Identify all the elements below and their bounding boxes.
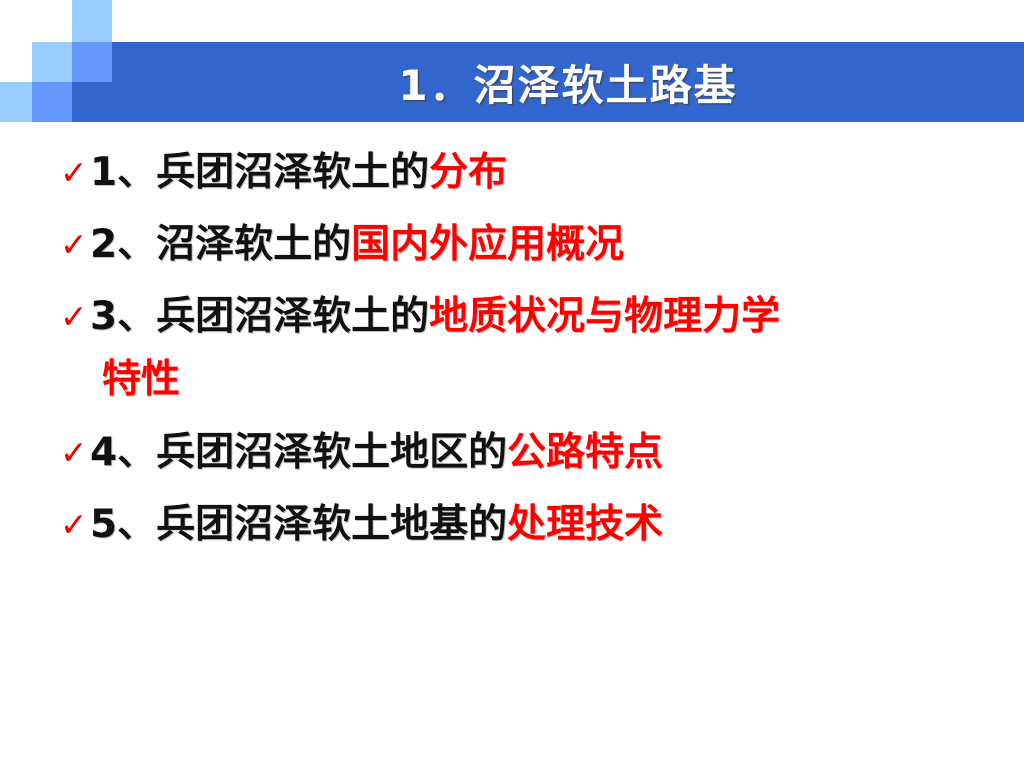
list-item-text: 3、兵团沼泽软土的地质状况与物理力学 xyxy=(90,292,1004,342)
decor-medium-blue-block-a xyxy=(72,42,112,82)
list-item-text: 5、兵团沼泽软土地基的处理技术 xyxy=(90,500,1004,550)
list-item-text: 4、兵团沼泽软土地区的公路特点 xyxy=(90,428,1004,478)
list-item: ✓ 3、兵团沼泽软土的地质状况与物理力学 xyxy=(60,292,1004,342)
list-item-dark-text: 兵团沼泽软土地区的 xyxy=(156,430,507,475)
list-item-red-text: 国内外应用概况 xyxy=(351,222,624,267)
list-item-number: 2、 xyxy=(90,222,156,267)
checkmark-icon: ✓ xyxy=(60,500,90,550)
list-item-continuation: 特性 xyxy=(60,354,1004,406)
list-item: ✓ 5、兵团沼泽软土地基的处理技术 xyxy=(60,500,1004,550)
list-item-number: 3、 xyxy=(90,294,156,339)
checkmark-icon: ✓ xyxy=(60,220,90,270)
decor-light-blue-block-middle xyxy=(32,42,72,82)
decor-light-blue-block-top xyxy=(72,0,112,42)
list-item-number: 1、 xyxy=(90,150,156,195)
list-item-number: 5、 xyxy=(90,502,156,547)
list-item: ✓ 4、兵团沼泽软土地区的公路特点 xyxy=(60,428,1004,478)
slide-title: 1．沼泽软土路基 xyxy=(112,42,1024,122)
checkmark-icon: ✓ xyxy=(60,148,90,198)
decor-medium-blue-block-b xyxy=(32,82,72,122)
list-item-dark-text: 沼泽软土的 xyxy=(156,222,351,267)
bullet-list: ✓ 1、兵团沼泽软土的分布 ✓ 2、沼泽软土的国内外应用概况 ✓ 3、兵团沼泽软… xyxy=(60,148,1004,572)
checkmark-icon: ✓ xyxy=(60,428,90,478)
list-item-dark-text: 兵团沼泽软土的 xyxy=(156,150,429,195)
list-item-continuation-text: 特性 xyxy=(102,354,180,406)
list-item-red-text: 地质状况与物理力学 xyxy=(429,294,780,339)
list-item: ✓ 2、沼泽软土的国内外应用概况 xyxy=(60,220,1004,270)
checkmark-icon: ✓ xyxy=(60,292,90,342)
list-item-number: 4、 xyxy=(90,430,156,475)
list-item: ✓ 1、兵团沼泽软土的分布 xyxy=(60,148,1004,198)
list-item-text: 2、沼泽软土的国内外应用概况 xyxy=(90,220,1004,270)
list-item-dark-text: 兵团沼泽软土的 xyxy=(156,294,429,339)
presentation-slide: 1．沼泽软土路基 ✓ 1、兵团沼泽软土的分布 ✓ 2、沼泽软土的国内外应用概况 … xyxy=(0,0,1024,768)
decor-dark-blue-block-c xyxy=(72,82,112,122)
list-item-red-text: 分布 xyxy=(429,150,507,195)
list-item-text: 1、兵团沼泽软土的分布 xyxy=(90,148,1004,198)
list-item-dark-text: 兵团沼泽软土地基的 xyxy=(156,502,507,547)
list-item-red-text: 公路特点 xyxy=(507,430,663,475)
list-item-red-text: 处理技术 xyxy=(507,502,663,547)
decor-light-blue-block-lower xyxy=(0,82,32,122)
